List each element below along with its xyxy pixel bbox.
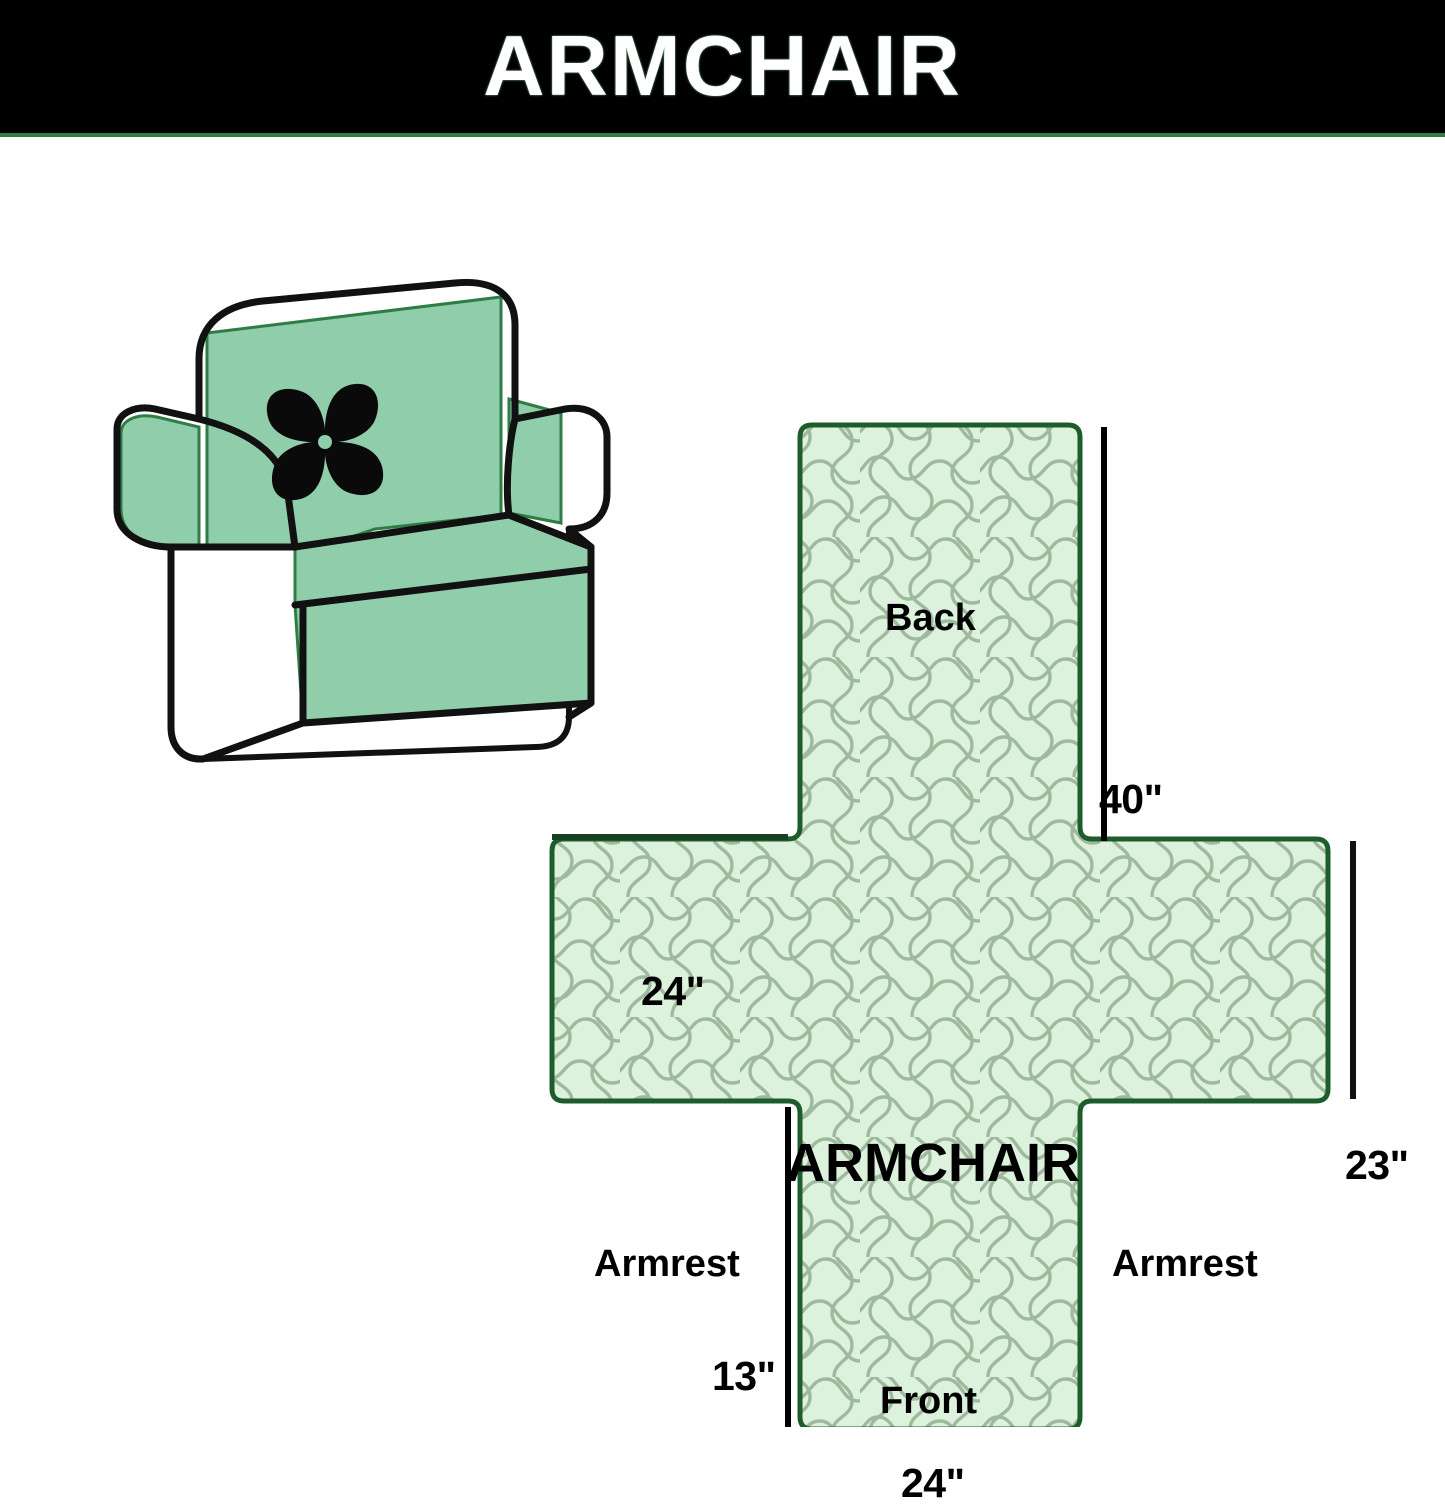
dimension-label-back-height: 40" <box>1099 776 1163 823</box>
content-canvas: Back ARMCHAIR Armrest Armrest Front 40" … <box>0 137 1445 1445</box>
page-title: ARMCHAIR <box>483 24 962 109</box>
section-label-back: Back <box>885 597 976 640</box>
dimension-label-armrest-height: 23" <box>1345 1142 1409 1189</box>
section-label-armrest-left: Armrest <box>594 1243 740 1286</box>
dimension-label-back-width: 24" <box>641 968 705 1015</box>
diagram-center-label: ARMCHAIR <box>786 1132 1080 1194</box>
dimension-label-front-height: 13" <box>712 1353 776 1400</box>
header-bar: ARMCHAIR <box>0 0 1445 133</box>
section-label-armrest-right: Armrest <box>1112 1243 1258 1286</box>
cover-left-arm <box>121 416 199 547</box>
section-label-front: Front <box>880 1380 977 1423</box>
dimension-label-front-width: 24" <box>901 1460 965 1507</box>
